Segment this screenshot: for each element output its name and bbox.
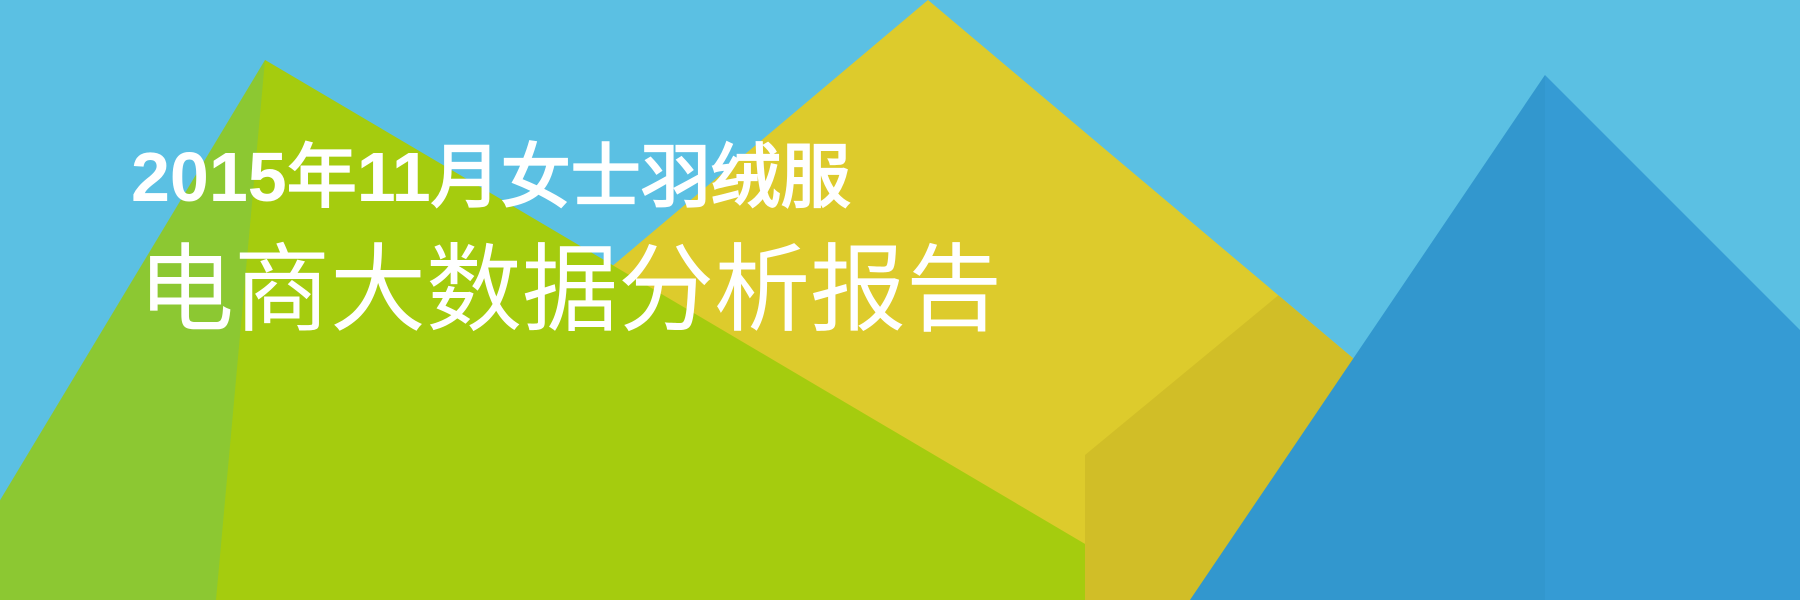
- slide-canvas: 2015年11月女士羽绒服 电商大数据分析报告: [0, 0, 1800, 600]
- background-graphics: [0, 0, 1800, 600]
